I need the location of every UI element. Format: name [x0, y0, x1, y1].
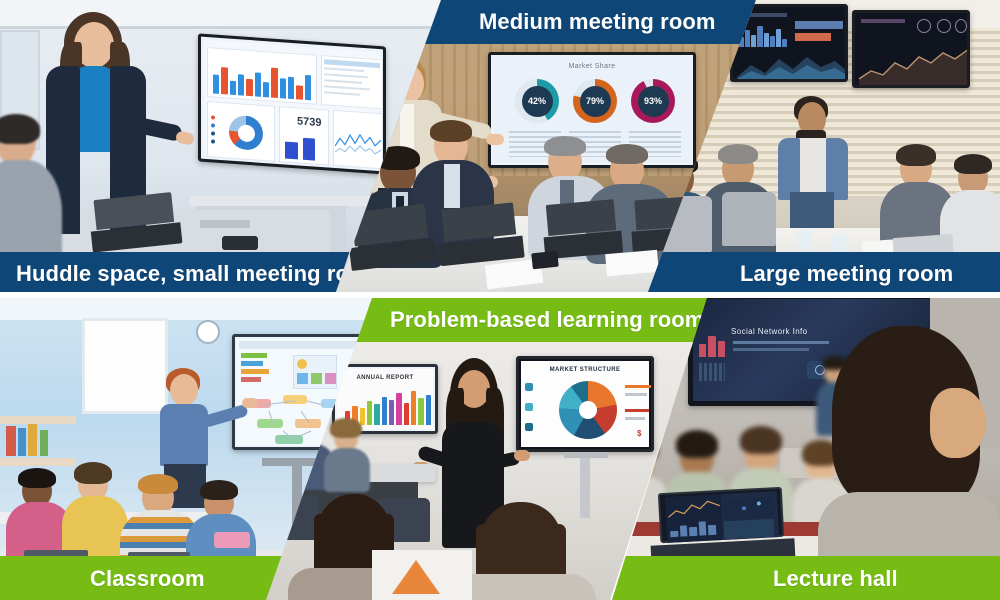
caption-label-large: Large meeting room	[652, 261, 953, 287]
caption-label-lecture: Lecture hall	[616, 566, 898, 592]
metric-value-3: 93%	[644, 96, 662, 106]
large-room-display-right	[852, 10, 970, 88]
caption-label-classroom: Classroom	[0, 566, 205, 592]
caption-label-huddle: Huddle space, small meeting room	[0, 261, 382, 287]
large-room-presenter	[776, 96, 850, 232]
huddle-kpi-value: 5739	[297, 115, 321, 129]
metric-value-2: 79%	[586, 96, 604, 106]
lecture-screen-title: Social Network Info	[731, 327, 808, 336]
caption-band-classroom: Classroom	[0, 556, 314, 600]
caption-band-huddle: Huddle space, small meeting room	[0, 252, 349, 292]
caption-label-problem: Problem-based learning room	[350, 307, 704, 333]
room-types-collage: 5739	[0, 0, 1000, 600]
caption-band-medium: Medium meeting room	[417, 0, 757, 44]
pbl-right-screen-title: MARKET STRUCTURE	[519, 367, 651, 373]
caption-band-large: Large meeting room	[648, 252, 1000, 292]
metric-ring-1: 42%	[515, 79, 559, 123]
metric-ring-3: 93%	[631, 79, 675, 123]
pbl-display-right: MARKET STRUCTURE $	[516, 356, 654, 452]
caption-band-problem: Problem-based learning room	[343, 298, 708, 342]
metric-ring-2: 79%	[573, 79, 617, 123]
huddle-display: 5739	[198, 33, 386, 174]
medium-screen-title: Market Share	[491, 63, 693, 70]
caption-band-lecture: Lecture hall	[612, 556, 1000, 600]
pbl-left-screen-title: ANNUAL REPORT	[335, 375, 435, 381]
caption-label-medium: Medium meeting room	[424, 9, 716, 35]
metric-value-1: 42%	[528, 96, 546, 106]
